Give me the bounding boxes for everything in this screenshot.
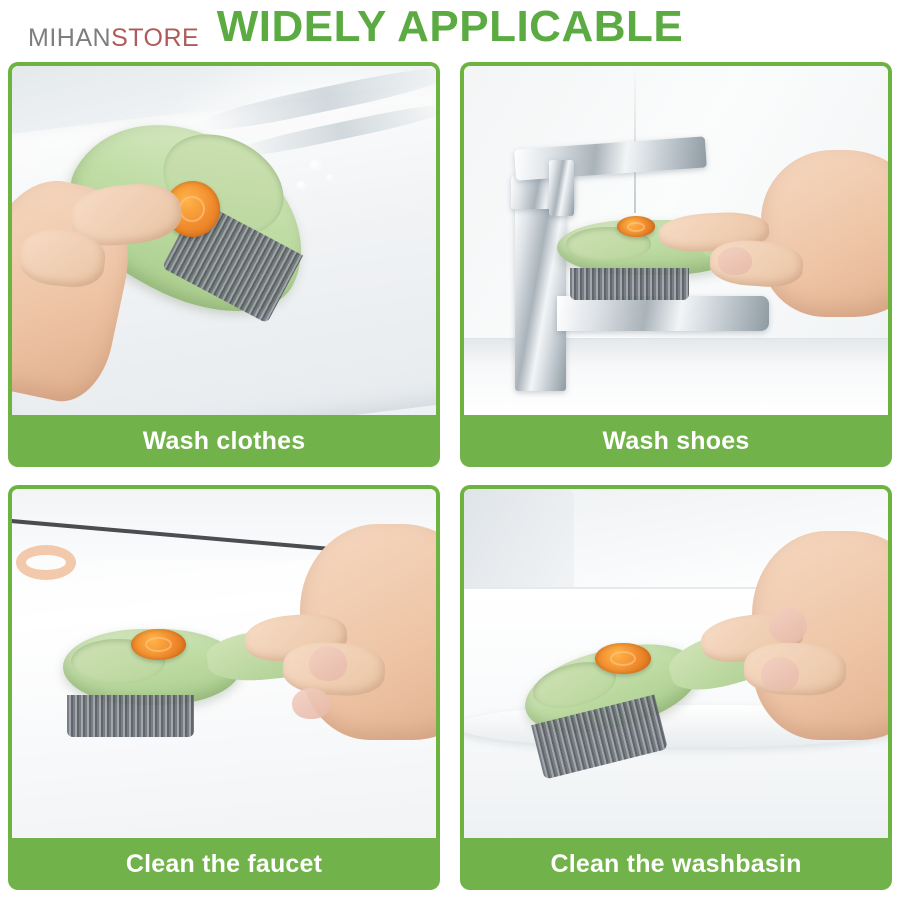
brush-bristles bbox=[570, 268, 689, 299]
photo-clean-faucet bbox=[8, 485, 440, 838]
foam-bubble bbox=[309, 160, 322, 170]
panel-wash-clothes: Wash clothes bbox=[8, 62, 440, 467]
hand bbox=[761, 150, 892, 318]
photo-wash-shoes bbox=[460, 62, 892, 415]
scene-clean-faucet bbox=[12, 489, 436, 838]
faucet-spout bbox=[557, 296, 769, 331]
watermark-brand-primary: MIHAN bbox=[28, 24, 111, 52]
panel-clean-washbasin: Clean the washbasin bbox=[460, 485, 892, 890]
panel-wash-shoes: Wash shoes bbox=[460, 62, 892, 467]
photo-clean-washbasin bbox=[460, 485, 892, 838]
wall-corner-line bbox=[634, 66, 636, 213]
panel-grid: Wash clothes bbox=[8, 62, 892, 890]
brush-bristles bbox=[67, 695, 194, 737]
fingernail bbox=[292, 688, 330, 719]
fingernail bbox=[718, 247, 752, 275]
wall-panel bbox=[464, 489, 574, 601]
caption-clean-washbasin: Clean the washbasin bbox=[460, 838, 892, 890]
faucet-column bbox=[515, 199, 566, 391]
scene-clean-washbasin bbox=[464, 489, 888, 838]
scene-wash-shoes bbox=[464, 66, 888, 415]
caption-wash-clothes: Wash clothes bbox=[8, 415, 440, 467]
faucet-neck bbox=[549, 160, 574, 216]
scene-wash-clothes bbox=[12, 66, 436, 415]
foam-bubble bbox=[296, 181, 307, 190]
watermark: MIHANSTORE bbox=[28, 24, 199, 53]
fingernail bbox=[309, 646, 347, 681]
decor-ring bbox=[16, 545, 75, 580]
header-banner: WIDELY APPLICABLE MIHANSTORE bbox=[0, 0, 900, 58]
soap-dispenser-knob bbox=[617, 216, 655, 237]
soap-dispenser-knob bbox=[595, 643, 650, 674]
caption-clean-faucet: Clean the faucet bbox=[8, 838, 440, 890]
watermark-brand-secondary: STORE bbox=[111, 24, 199, 52]
photo-wash-clothes bbox=[8, 62, 440, 415]
fingernail bbox=[769, 608, 807, 643]
fingernail bbox=[761, 657, 799, 692]
caption-wash-shoes: Wash shoes bbox=[460, 415, 892, 467]
soap-dispenser-knob bbox=[131, 629, 186, 660]
panel-clean-faucet: Clean the faucet bbox=[8, 485, 440, 890]
